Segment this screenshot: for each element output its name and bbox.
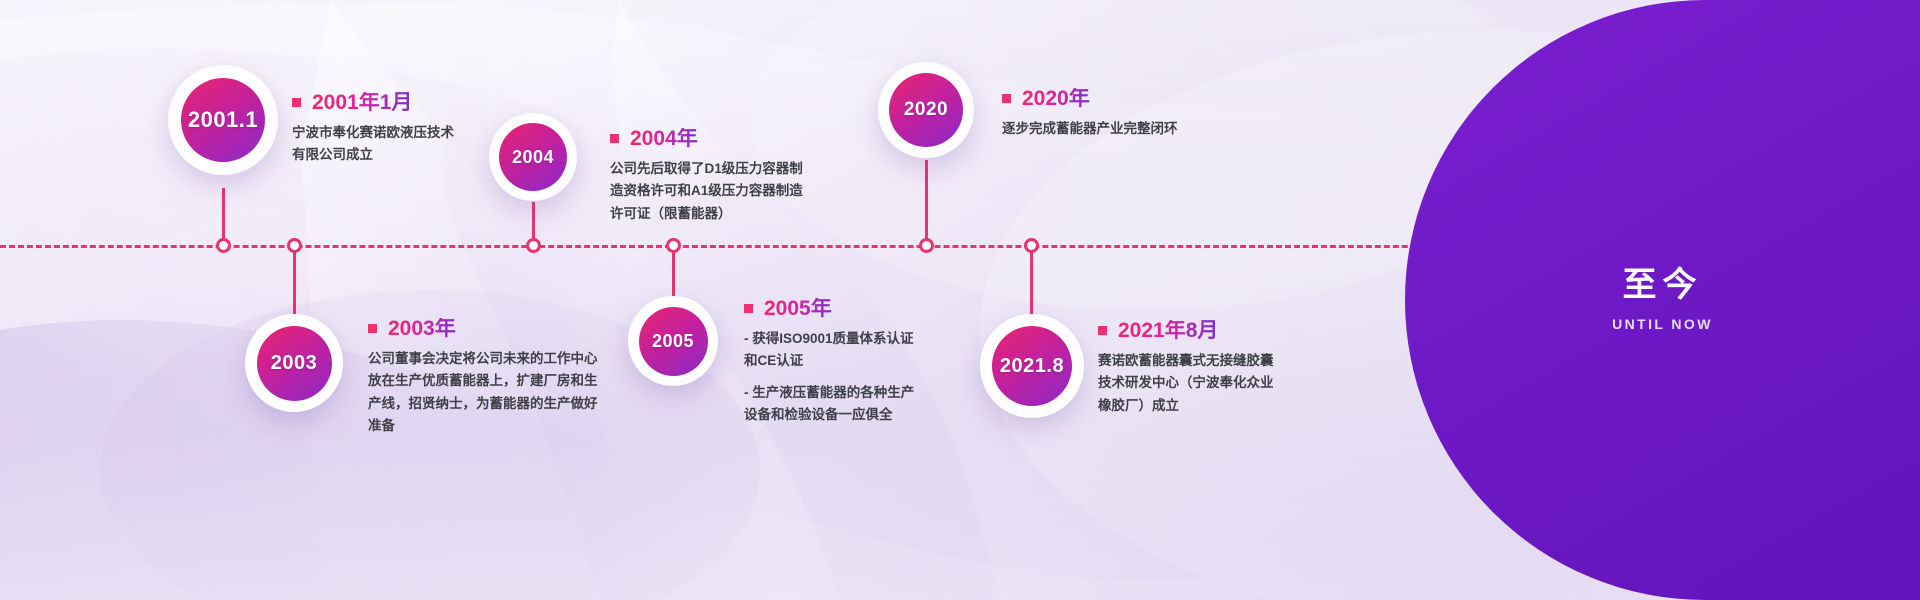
milestone-heading-row: 2021年8月 <box>1098 320 1358 341</box>
body-line: - 获得ISO9001质量体系认证 <box>744 328 994 350</box>
square-bullet-icon <box>1098 326 1107 335</box>
milestone-bubble[interactable]: 2020 <box>878 62 974 158</box>
body-line: 许可证（限蓄能器） <box>610 203 860 225</box>
body-line: 放在生产优质蓄能器上，扩建厂房和生 <box>368 370 618 392</box>
milestone-heading-row: 2004年 <box>610 128 860 149</box>
body-line: 橡胶厂）成立 <box>1098 395 1358 417</box>
milestone-bubble[interactable]: 2001.1 <box>168 65 278 175</box>
milestone-bubble[interactable]: 2003 <box>245 314 343 412</box>
milestone-heading-row: 2003年 <box>368 318 618 339</box>
milestone-heading: 2003年 <box>388 318 456 339</box>
axis-node-dot <box>216 238 231 253</box>
body-line: - 生产液压蓄能器的各种生产 <box>744 382 994 404</box>
square-bullet-icon <box>744 304 753 313</box>
milestone-heading-row: 2020年 <box>1002 88 1302 109</box>
milestone-badge-label: 2021.8 <box>992 326 1072 406</box>
milestone-badge-label: 2004 <box>499 123 567 191</box>
body-line: 赛诺欧蓄能器囊式无接缝胶囊 <box>1098 350 1358 372</box>
square-bullet-icon <box>1002 94 1011 103</box>
milestone-badge-label: 2001.1 <box>181 78 265 162</box>
connector-stem <box>1030 245 1033 317</box>
connector-stem <box>293 245 296 317</box>
milestone-heading: 2020年 <box>1022 88 1090 109</box>
milestone-bubble[interactable]: 2005 <box>628 296 718 386</box>
axis-node-dot <box>287 238 302 253</box>
body-line: 公司先后取得了D1级压力容器制 <box>610 158 860 180</box>
milestone-text-2004: 2004年 公司先后取得了D1级压力容器制 造资格许可和A1级压力容器制造 许可… <box>610 128 860 225</box>
milestone-heading-row: 2001年1月 <box>292 92 532 113</box>
timeline-infographic: 2001.1 2001年1月 宁波市奉化赛诺欧液压技术 有限公司成立 2003 … <box>0 0 1920 600</box>
milestone-text-2020: 2020年 逐步完成蓄能器产业完整闭环 <box>1002 88 1302 140</box>
body-line: 逐步完成蓄能器产业完整闭环 <box>1002 118 1302 140</box>
square-bullet-icon <box>610 134 619 143</box>
milestone-bubble[interactable]: 2004 <box>489 113 577 201</box>
body-line: 造资格许可和A1级压力容器制造 <box>610 180 860 202</box>
square-bullet-icon <box>368 324 377 333</box>
milestone-bubble[interactable]: 2021.8 <box>980 314 1084 418</box>
milestone-badge-label: 2020 <box>889 73 963 147</box>
milestone-heading: 2001年1月 <box>312 92 412 113</box>
until-now-label-en: UNTIL NOW <box>1612 316 1713 332</box>
milestone-badge-label: 2005 <box>639 307 708 376</box>
body-list-item: - 获得ISO9001质量体系认证 和CE认证 <box>744 328 994 373</box>
milestone-body: 公司董事会决定将公司未来的工作中心 放在生产优质蓄能器上，扩建厂房和生 产线，招… <box>368 348 618 437</box>
milestone-body: 赛诺欧蓄能器囊式无接缝胶囊 技术研发中心（宁波奉化众业 橡胶厂）成立 <box>1098 350 1358 417</box>
milestone-body: - 获得ISO9001质量体系认证 和CE认证 - 生产液压蓄能器的各种生产 设… <box>744 328 994 426</box>
body-line: 和CE认证 <box>744 350 994 372</box>
body-line: 技术研发中心（宁波奉化众业 <box>1098 372 1358 394</box>
milestone-heading: 2005年 <box>764 298 832 319</box>
axis-node-dot <box>666 238 681 253</box>
square-bullet-icon <box>292 98 301 107</box>
connector-stem <box>925 160 928 246</box>
milestone-body: 逐步完成蓄能器产业完整闭环 <box>1002 118 1302 140</box>
milestone-heading: 2004年 <box>630 128 698 149</box>
until-now-label-cn: 至今 <box>1623 268 1703 302</box>
body-line: 准备 <box>368 415 618 437</box>
body-line: 公司董事会决定将公司未来的工作中心 <box>368 348 618 370</box>
milestone-heading: 2021年8月 <box>1118 320 1218 341</box>
axis-node-dot <box>919 238 934 253</box>
axis-node-dot <box>1024 238 1039 253</box>
milestone-body: 公司先后取得了D1级压力容器制 造资格许可和A1级压力容器制造 许可证（限蓄能器… <box>610 158 860 225</box>
axis-node-dot <box>526 238 541 253</box>
milestone-text-2021-8: 2021年8月 赛诺欧蓄能器囊式无接缝胶囊 技术研发中心（宁波奉化众业 橡胶厂）… <box>1098 320 1358 417</box>
body-list-item: - 生产液压蓄能器的各种生产 设备和检验设备一应俱全 <box>744 382 994 427</box>
milestone-text-2003: 2003年 公司董事会决定将公司未来的工作中心 放在生产优质蓄能器上，扩建厂房和… <box>368 318 618 437</box>
milestone-badge-label: 2003 <box>257 326 332 401</box>
body-line: 产线，招贤纳士，为蓄能器的生产做好 <box>368 393 618 415</box>
milestone-text-2005: 2005年 - 获得ISO9001质量体系认证 和CE认证 - 生产液压蓄能器的… <box>744 298 994 426</box>
body-line: 设备和检验设备一应俱全 <box>744 404 994 426</box>
milestone-heading-row: 2005年 <box>744 298 994 319</box>
